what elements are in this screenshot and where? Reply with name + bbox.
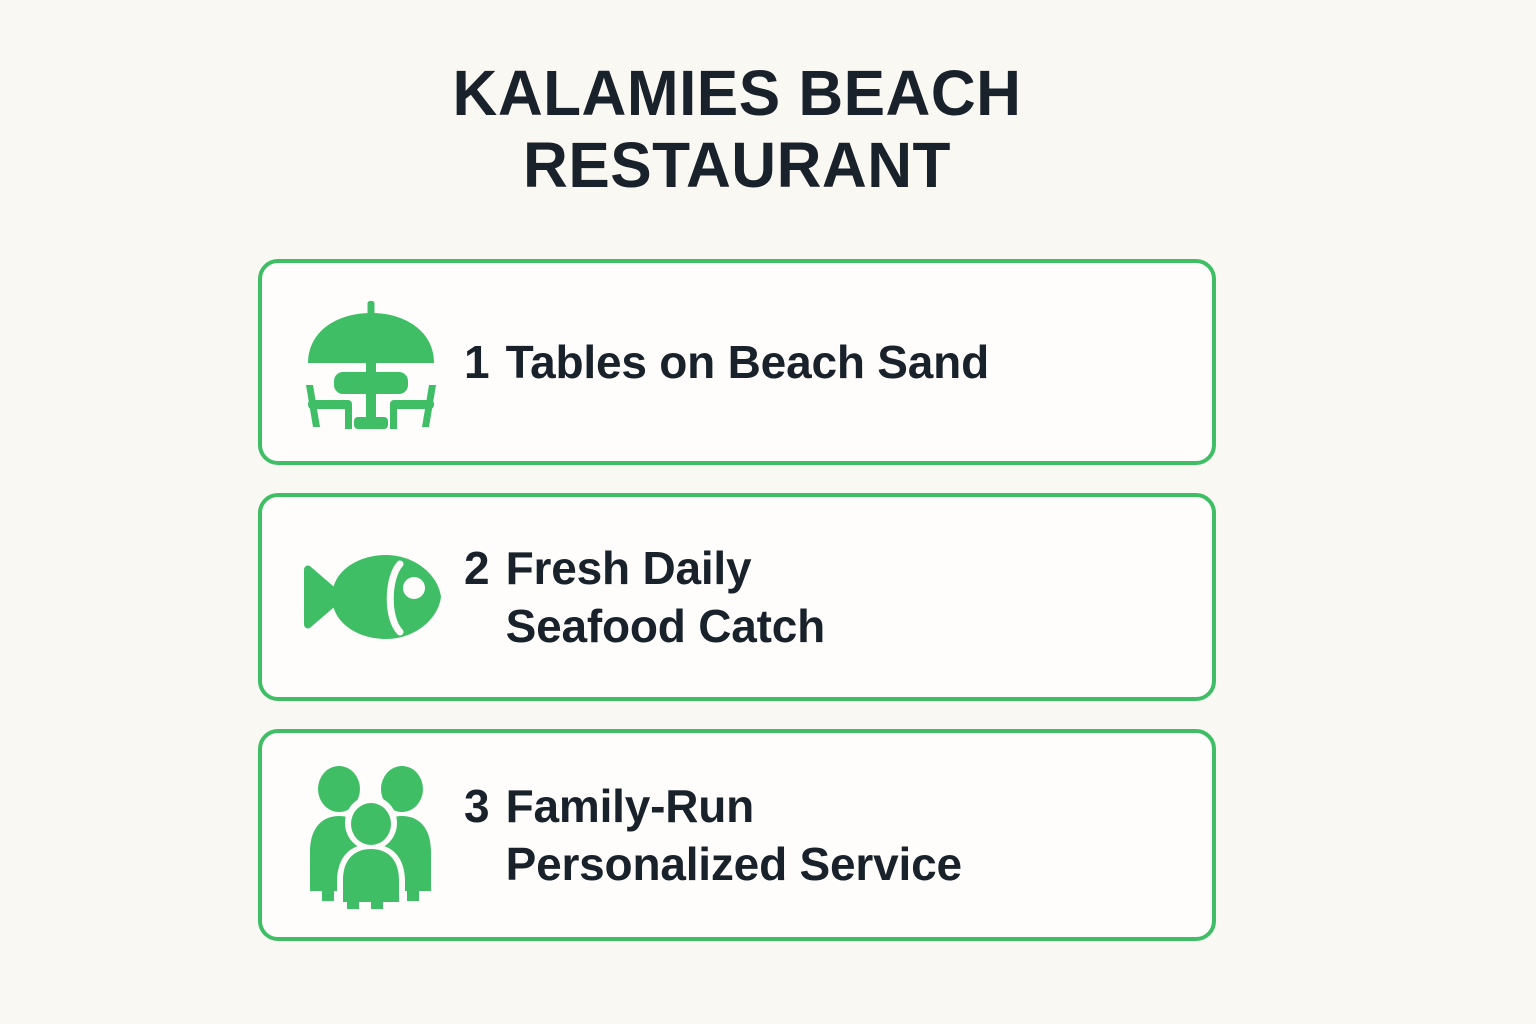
feature-card-2-number: 2 (464, 539, 490, 597)
feature-card-3-number: 3 (464, 777, 490, 835)
page-title: KALAMIES BEACH RESTAURANT (272, 58, 1201, 201)
feature-card-2-body: 2 Fresh Daily Seafood Catch (464, 539, 1178, 655)
feature-card-3-label: Family-Run Personalized Service (506, 777, 962, 893)
feature-card-1-label: Tables on Beach Sand (506, 333, 989, 391)
title-block: KALAMIES BEACH RESTAURANT (258, 58, 1216, 201)
feature-card-list: 1 Tables on Beach Sand (258, 259, 1216, 941)
feature-card-2-label: Fresh Daily Seafood Catch (506, 539, 825, 655)
feature-card-2[interactable]: 2 Fresh Daily Seafood Catch (258, 493, 1216, 701)
feature-card-1-body: 1 Tables on Beach Sand (464, 333, 1178, 391)
infographic-page: KALAMIES BEACH RESTAURANT (0, 0, 1536, 1024)
beach-umbrella-table-icon (296, 287, 446, 437)
feature-card-1[interactable]: 1 Tables on Beach Sand (258, 259, 1216, 465)
fish-icon (296, 522, 446, 672)
feature-card-1-number: 1 (464, 333, 490, 391)
feature-card-3-body: 3 Family-Run Personalized Service (464, 777, 1178, 893)
feature-card-3[interactable]: 3 Family-Run Personalized Service (258, 729, 1216, 941)
family-group-icon (296, 760, 446, 910)
